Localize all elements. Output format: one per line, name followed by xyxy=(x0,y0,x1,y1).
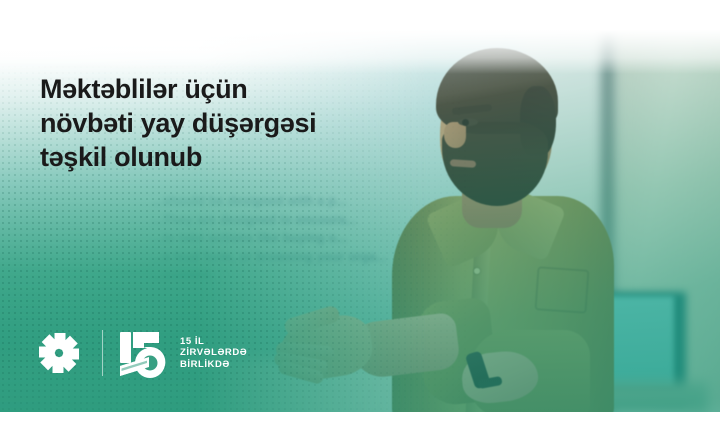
news-hero-banner: ...should be designed with a p... ...The… xyxy=(0,0,720,446)
brand-logo-lockup: 15 İL ZİRVƏLƏRDƏ BİRLİKDƏ xyxy=(34,326,247,380)
headline-line-3: təşkil olunub xyxy=(40,140,440,174)
fifteen-anniversary-mark-icon xyxy=(119,326,167,380)
headline: Məktəblilər üçün növbəti yay düşərgəsi t… xyxy=(40,72,440,174)
anniversary-line-3: BİRLİKDƏ xyxy=(180,359,247,371)
top-white-fade xyxy=(0,0,720,74)
eight-point-star-emblem-icon xyxy=(34,328,84,378)
bottom-white-band xyxy=(0,412,720,446)
anniversary-slogan: 15 İL ZİRVƏLƏRDƏ BİRLİKDƏ xyxy=(180,336,247,371)
headline-line-1: Məktəblilər üçün xyxy=(40,72,440,106)
logo-divider xyxy=(102,330,103,376)
banner-photo: ...should be designed with a p... ...The… xyxy=(0,0,720,412)
anniversary-line-2: ZİRVƏLƏRDƏ xyxy=(180,347,247,359)
headline-line-2: növbəti yay düşərgəsi xyxy=(40,106,440,140)
anniversary-line-1: 15 İL xyxy=(180,336,247,348)
